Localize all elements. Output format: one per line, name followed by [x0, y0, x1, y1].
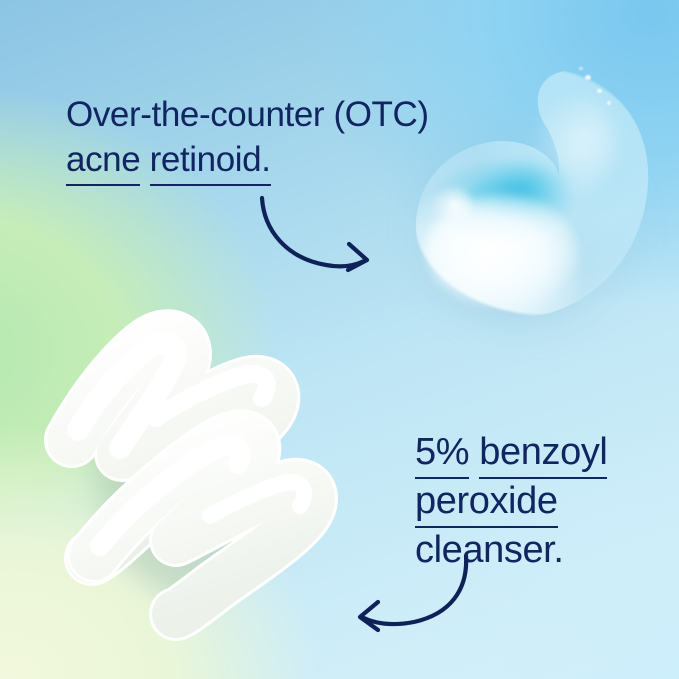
gel-droplet-icon	[585, 75, 591, 80]
callout-line: 5% benzoyl	[415, 430, 607, 479]
callout-segment-underlined: acne	[66, 137, 140, 186]
callout-segment-underlined: 5%	[415, 430, 469, 479]
callout-segment-underlined: retinoid.	[150, 137, 271, 186]
curved-arrow-to-cream	[338, 552, 488, 652]
white-cream-swirl	[28, 300, 378, 640]
marketing-image-canvas: Over-the-counter (OTC) acne retinoid. 5%…	[0, 0, 679, 679]
callout-line: acne retinoid.	[66, 137, 429, 186]
callout-segment-underlined: benzoyl	[479, 430, 607, 479]
gel-droplet-icon	[597, 89, 602, 93]
gel-droplet-icon	[579, 67, 583, 70]
callout-line: Over-the-counter (OTC)	[66, 92, 429, 137]
gel-droplet-icon	[607, 101, 611, 105]
gel-body	[413, 67, 651, 315]
cream-svg	[28, 300, 378, 640]
callout-otc-retinoid-text: Over-the-counter (OTC) acne retinoid.	[66, 92, 429, 186]
callout-segment-underlined: peroxide	[415, 479, 558, 528]
curved-arrow-to-gel	[248, 186, 398, 286]
blue-gel-swatch	[395, 55, 660, 320]
callout-space	[140, 140, 149, 179]
gel-rim-highlight	[433, 187, 473, 223]
callout-line: peroxide	[415, 479, 607, 528]
callout-segment: Over-the-counter (OTC)	[66, 95, 429, 134]
callout-space	[469, 431, 479, 473]
